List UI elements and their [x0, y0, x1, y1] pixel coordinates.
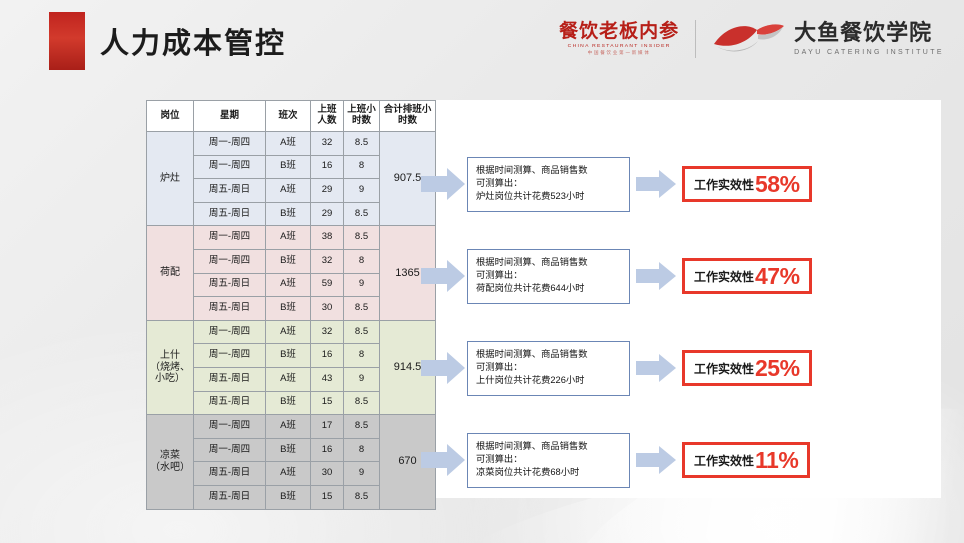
title-accent-bar: [49, 12, 85, 70]
logo-canyin-laoban-neican: 餐饮老板内参 CHINA RESTAURANT INSIDER 中国餐饮业第一新…: [559, 22, 679, 56]
logo-dayu-english: DAYU CATERING INSTITUTE: [794, 49, 944, 56]
cell-weekday: 周一-周四: [194, 344, 266, 368]
metric-box-luzao: 工作实效性 58%: [682, 166, 812, 202]
group-position-line3: 小吃）: [147, 373, 193, 385]
logo-divider: [695, 20, 696, 58]
right-arrow-icon: [421, 351, 465, 385]
column-header-total: 合计排班小 时数: [380, 101, 436, 132]
cell-weekday: 周一-周四: [194, 226, 266, 250]
metric-label: 工作实效性: [694, 360, 754, 377]
cell-hours: 8.5: [344, 132, 380, 156]
cell-weekday: 周五-周日: [194, 297, 266, 321]
metric-value: 11%: [755, 447, 798, 474]
cell-people: 38: [311, 226, 344, 250]
cell-people: 32: [311, 249, 344, 273]
metric-label: 工作实效性: [694, 452, 754, 469]
note-line-3: 上什岗位共计花费226小时: [476, 374, 622, 387]
table-row: 荷配 周一-周四 A班 38 8.5 1365: [147, 226, 436, 250]
cell-weekday: 周一-周四: [194, 438, 266, 462]
cell-weekday: 周一-周四: [194, 415, 266, 439]
cell-people: 59: [311, 273, 344, 297]
cell-shift: B班: [266, 155, 311, 179]
logo-dayu-text: 大鱼餐饮学院 DAYU CATERING INSTITUTE: [794, 22, 944, 56]
note-line-1: 根据时间测算、商品销售数: [476, 440, 622, 453]
cell-shift: A班: [266, 415, 311, 439]
group-position-liangcai: 凉菜 （水吧）: [147, 415, 194, 509]
group-position-line2: （烧烤、: [147, 362, 193, 374]
group-position-luzao: 炉灶: [147, 132, 194, 226]
cell-shift: B班: [266, 485, 311, 509]
note-box-hepei: 根据时间测算、商品销售数 可测算出： 荷配岗位共计花费644小时: [467, 249, 630, 304]
note-line-1: 根据时间测算、商品销售数: [476, 348, 622, 361]
cell-shift: B班: [266, 391, 311, 415]
cell-hours: 9: [344, 462, 380, 486]
note-box-liangcai: 根据时间测算、商品销售数 可测算出： 凉菜岗位共计花费68小时: [467, 433, 630, 488]
cell-shift: B班: [266, 249, 311, 273]
column-header-hours-line1: 上班小: [347, 104, 376, 115]
right-arrow-icon-2: [636, 445, 676, 475]
metric-box-shangshen: 工作实效性 25%: [682, 350, 812, 386]
slide-header: 人力成本管控 餐饮老板内参 CHINA RESTAURANT INSIDER 中…: [0, 0, 964, 88]
cell-shift: A班: [266, 132, 311, 156]
cell-shift: A班: [266, 320, 311, 344]
cell-weekday: 周一-周四: [194, 249, 266, 273]
staffing-schedule-table: 岗位 星期 班次 上班 人数 上班小 时数 合计排班小 时数 炉: [146, 100, 436, 510]
cell-shift: B班: [266, 438, 311, 462]
logo-cri-english: CHINA RESTAURANT INSIDER: [568, 45, 671, 50]
cell-shift: A班: [266, 179, 311, 203]
group-position-shangshen: 上什 （烧烤、 小吃）: [147, 320, 194, 414]
cell-shift: A班: [266, 462, 311, 486]
table-header-row: 岗位 星期 班次 上班 人数 上班小 时数 合计排班小 时数: [147, 101, 436, 132]
cell-weekday: 周一-周四: [194, 320, 266, 344]
cell-hours: 8.5: [344, 202, 380, 226]
cell-people: 30: [311, 297, 344, 321]
note-line-3: 炉灶岗位共计花费523小时: [476, 190, 622, 203]
metric-box-liangcai: 工作实效性 11%: [682, 442, 810, 478]
metric-box-hepei: 工作实效性 47%: [682, 258, 812, 294]
cell-people: 15: [311, 485, 344, 509]
logo-dayu: 大鱼餐饮学院 DAYU CATERING INSTITUTE: [712, 20, 944, 58]
cell-people: 16: [311, 344, 344, 368]
column-header-total-line2: 时数: [398, 115, 417, 126]
cell-hours: 8.5: [344, 297, 380, 321]
cell-hours: 9: [344, 367, 380, 391]
page-title: 人力成本管控: [100, 20, 286, 62]
cell-hours: 9: [344, 273, 380, 297]
right-arrow-icon-2: [636, 261, 676, 291]
right-arrow-icon: [421, 259, 465, 293]
cell-people: 15: [311, 391, 344, 415]
logo-cri-chinese: 餐饮老板内参: [559, 22, 679, 41]
cell-people: 16: [311, 438, 344, 462]
cell-hours: 8.5: [344, 485, 380, 509]
table-row: 炉灶 周一-周四 A班 32 8.5 907.5: [147, 132, 436, 156]
cell-weekday: 周一-周四: [194, 155, 266, 179]
note-line-2: 可测算出：: [476, 269, 622, 282]
cell-hours: 8: [344, 438, 380, 462]
column-header-people: 上班 人数: [311, 101, 344, 132]
metric-label: 工作实效性: [694, 268, 754, 285]
cell-weekday: 周五-周日: [194, 391, 266, 415]
right-arrow-icon: [421, 167, 465, 201]
table-group-shangshen: 上什 （烧烤、 小吃） 周一-周四 A班 32 8.5 914.5 周一-周四 …: [147, 320, 436, 414]
note-line-2: 可测算出：: [476, 177, 622, 190]
metric-value: 25%: [755, 355, 800, 382]
note-line-1: 根据时间测算、商品销售数: [476, 256, 622, 269]
cell-hours: 8: [344, 344, 380, 368]
note-box-luzao: 根据时间测算、商品销售数 可测算出： 炉灶岗位共计花费523小时: [467, 157, 630, 212]
right-arrow-icon-2: [636, 169, 676, 199]
cell-weekday: 周五-周日: [194, 462, 266, 486]
right-arrow-icon-2: [636, 353, 676, 383]
column-header-people-line1: 上班: [317, 104, 336, 115]
cell-weekday: 周五-周日: [194, 273, 266, 297]
note-line-2: 可测算出：: [476, 453, 622, 466]
note-line-3: 荷配岗位共计花费644小时: [476, 282, 622, 295]
cell-people: 16: [311, 155, 344, 179]
column-header-total-line1: 合计排班小: [384, 104, 432, 115]
cell-people: 32: [311, 320, 344, 344]
column-header-people-line2: 人数: [317, 115, 336, 126]
cell-people: 32: [311, 132, 344, 156]
metric-value: 47%: [755, 263, 800, 290]
group-position-line2: （水吧）: [147, 462, 193, 474]
cell-hours: 9: [344, 179, 380, 203]
metric-label: 工作实效性: [694, 176, 754, 193]
column-header-weekday: 星期: [194, 101, 266, 132]
cell-hours: 8: [344, 155, 380, 179]
column-header-position: 岗位: [147, 101, 194, 132]
flow-row-hepei: 根据时间测算、商品销售数 可测算出： 荷配岗位共计花费644小时 工作实效性 4…: [421, 249, 812, 304]
cell-hours: 8.5: [344, 415, 380, 439]
cell-hours: 8.5: [344, 320, 380, 344]
group-position-line1: 凉菜: [147, 450, 193, 462]
column-header-shift: 班次: [266, 101, 311, 132]
note-line-1: 根据时间测算、商品销售数: [476, 164, 622, 177]
logo-dayu-chinese: 大鱼餐饮学院: [794, 22, 944, 44]
cell-people: 43: [311, 367, 344, 391]
column-header-hours: 上班小 时数: [344, 101, 380, 132]
cell-weekday: 周五-周日: [194, 202, 266, 226]
cell-hours: 8.5: [344, 391, 380, 415]
cell-weekday: 周一-周四: [194, 132, 266, 156]
table-row: 凉菜 （水吧） 周一-周四 A班 17 8.5 670: [147, 415, 436, 439]
cell-shift: B班: [266, 202, 311, 226]
right-arrow-icon: [421, 443, 465, 477]
group-position-line1: 上什: [147, 350, 193, 362]
fish-logo-icon: [712, 20, 786, 58]
table-group-luzao: 炉灶 周一-周四 A班 32 8.5 907.5 周一-周四 B班 16 8 周…: [147, 132, 436, 226]
flow-row-luzao: 根据时间测算、商品销售数 可测算出： 炉灶岗位共计花费523小时 工作实效性 5…: [421, 157, 812, 212]
cell-hours: 8.5: [344, 226, 380, 250]
flow-row-liangcai: 根据时间测算、商品销售数 可测算出： 凉菜岗位共计花费68小时 工作实效性 11…: [421, 433, 810, 488]
group-position-hepei: 荷配: [147, 226, 194, 320]
note-line-2: 可测算出：: [476, 361, 622, 374]
logo-cri-tagline: 中国餐饮业第一新媒体: [588, 51, 651, 56]
column-header-hours-line2: 时数: [352, 115, 371, 126]
cell-shift: B班: [266, 297, 311, 321]
table-group-hepei: 荷配 周一-周四 A班 38 8.5 1365 周一-周四 B班 32 8 周五…: [147, 226, 436, 320]
cell-people: 17: [311, 415, 344, 439]
content-panel: 岗位 星期 班次 上班 人数 上班小 时数 合计排班小 时数 炉: [146, 100, 941, 498]
table-group-liangcai: 凉菜 （水吧） 周一-周四 A班 17 8.5 670 周一-周四 B班 16 …: [147, 415, 436, 509]
flow-row-shangshen: 根据时间测算、商品销售数 可测算出： 上什岗位共计花费226小时 工作实效性 2…: [421, 341, 812, 396]
cell-people: 30: [311, 462, 344, 486]
note-line-3: 凉菜岗位共计花费68小时: [476, 466, 622, 479]
logo-group: 餐饮老板内参 CHINA RESTAURANT INSIDER 中国餐饮业第一新…: [559, 20, 944, 58]
note-box-shangshen: 根据时间测算、商品销售数 可测算出： 上什岗位共计花费226小时: [467, 341, 630, 396]
table-row: 上什 （烧烤、 小吃） 周一-周四 A班 32 8.5 914.5: [147, 320, 436, 344]
cell-weekday: 周五-周日: [194, 179, 266, 203]
cell-weekday: 周五-周日: [194, 485, 266, 509]
cell-shift: B班: [266, 344, 311, 368]
cell-hours: 8: [344, 249, 380, 273]
cell-shift: A班: [266, 273, 311, 297]
cell-shift: A班: [266, 226, 311, 250]
metric-value: 58%: [755, 171, 800, 198]
cell-weekday: 周五-周日: [194, 367, 266, 391]
cell-people: 29: [311, 202, 344, 226]
cell-shift: A班: [266, 367, 311, 391]
cell-people: 29: [311, 179, 344, 203]
